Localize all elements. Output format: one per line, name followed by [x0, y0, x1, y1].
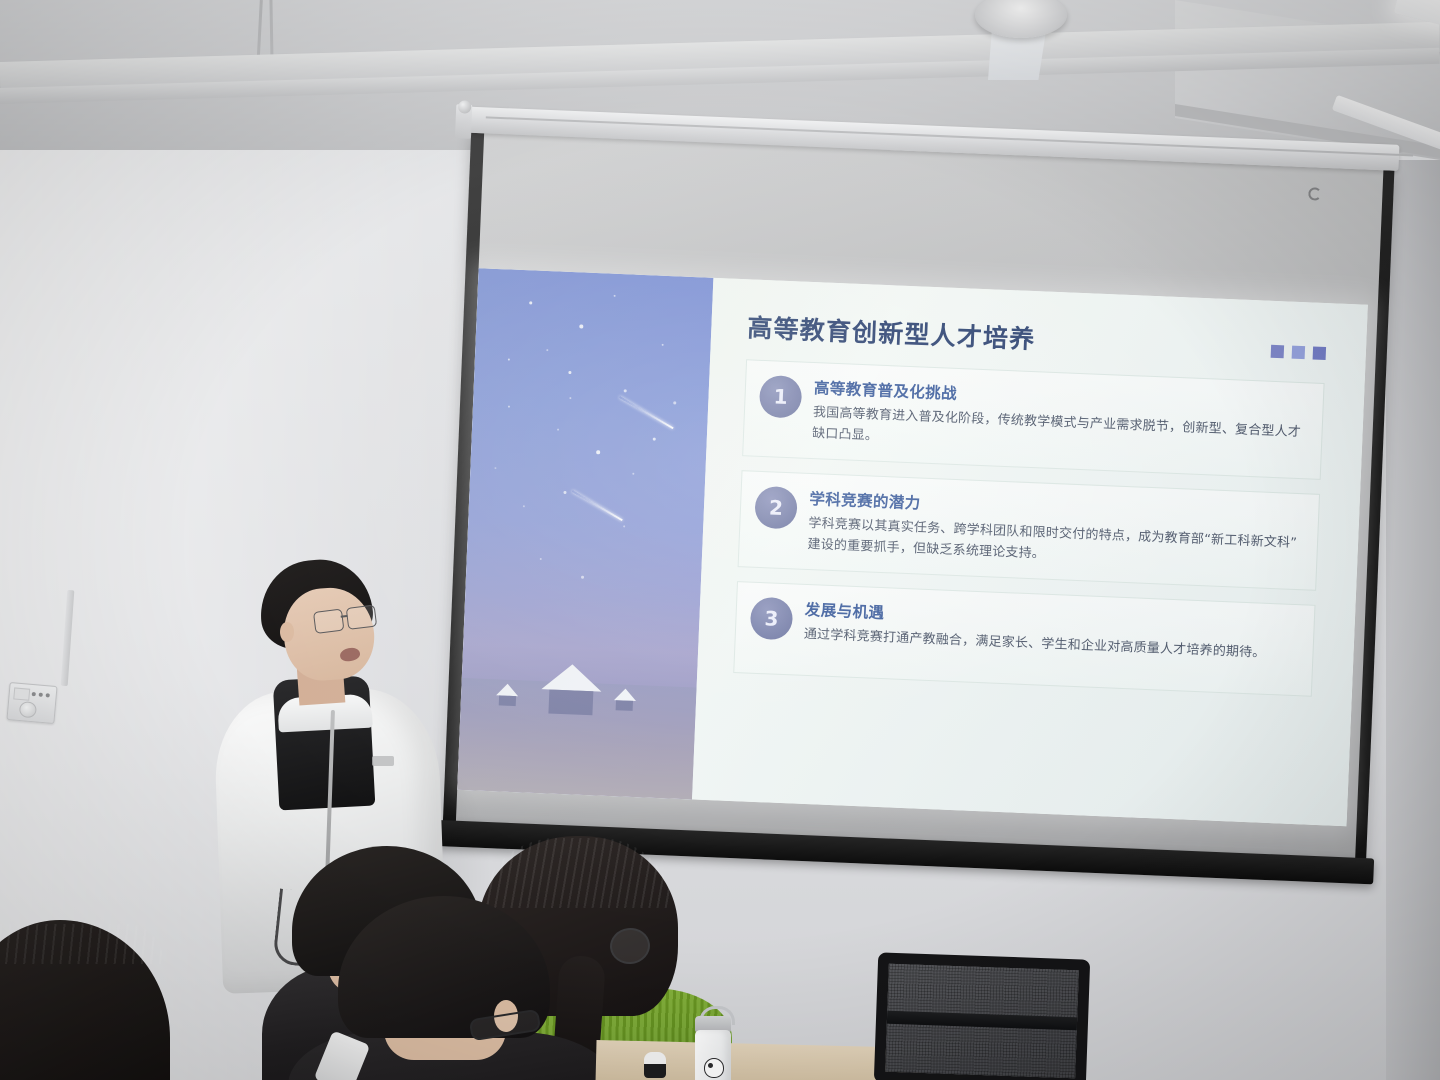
slide-content-panel: 高等教育创新型人才培养 1 高等教育普及化挑战 我国高等教育进入普及化阶段，传统… [692, 278, 1368, 826]
socket-dial[interactable] [19, 701, 37, 718]
screen-brand-logo [1308, 185, 1379, 204]
desk-trinket [644, 1052, 666, 1078]
socket-indicator-2 [39, 693, 43, 697]
card-number-badge: 2 [754, 486, 798, 530]
presenter-jacket-logo [372, 756, 394, 766]
decor-square-3 [1313, 347, 1327, 361]
slide-image-panel [457, 268, 713, 799]
projected-slide-area: 高等教育创新型人才培养 1 高等教育普及化挑战 我国高等教育进入普及化阶段，传统… [457, 268, 1368, 826]
decor-square-1 [1271, 345, 1285, 359]
audience-hair-strands [0, 924, 164, 964]
wall-socket-panel[interactable] [6, 682, 57, 724]
brand-mark-icon [1308, 187, 1322, 201]
decor-squares [1271, 345, 1326, 360]
slide: 高等教育创新型人才培养 1 高等教育普及化挑战 我国高等教育进入普及化阶段，传统… [457, 268, 1368, 826]
socket-indicator-1 [32, 692, 36, 696]
decor-square-2 [1292, 346, 1306, 360]
slide-card-list: 1 高等教育普及化挑战 我国高等教育进入普及化阶段，传统教学模式与产业需求脱节，… [733, 359, 1324, 697]
hut-icon [540, 663, 602, 715]
slide-card: 2 学科竞赛的潜力 学科竞赛以其真实任务、跨学科团队和限时交付的特点，成为教育部… [738, 470, 1320, 591]
water-bottle[interactable] [690, 1008, 736, 1080]
audience-member-left [0, 920, 170, 1080]
socket-indicator-3 [46, 693, 50, 697]
slide-title: 高等教育创新型人才培养 [747, 313, 1327, 367]
card-number-badge: 1 [759, 375, 803, 419]
hut-icon [496, 683, 519, 706]
audience-member-front [318, 896, 608, 1080]
socket-switch[interactable] [13, 687, 30, 700]
classroom-photo: 高等教育创新型人才培养 1 高等教育普及化挑战 我国高等教育进入普及化阶段，传统… [0, 0, 1440, 1080]
presenter-ear [280, 622, 294, 642]
mesh-chair [874, 952, 1090, 1080]
hut-icon [613, 688, 636, 711]
slide-card: 1 高等教育普及化挑战 我国高等教育进入普及化阶段，传统教学模式与产业需求脱节，… [742, 359, 1324, 480]
bottle-character-icon [704, 1058, 724, 1078]
slide-card: 3 发展与机遇 通过学科竞赛打通产教融合，满足家长、学生和企业对高质量人才培养的… [733, 581, 1315, 697]
card-number-badge: 3 [750, 597, 794, 641]
projection-screen: 高等教育创新型人才培养 1 高等教育普及化挑战 我国高等教育进入普及化阶段，传统… [421, 112, 1406, 903]
